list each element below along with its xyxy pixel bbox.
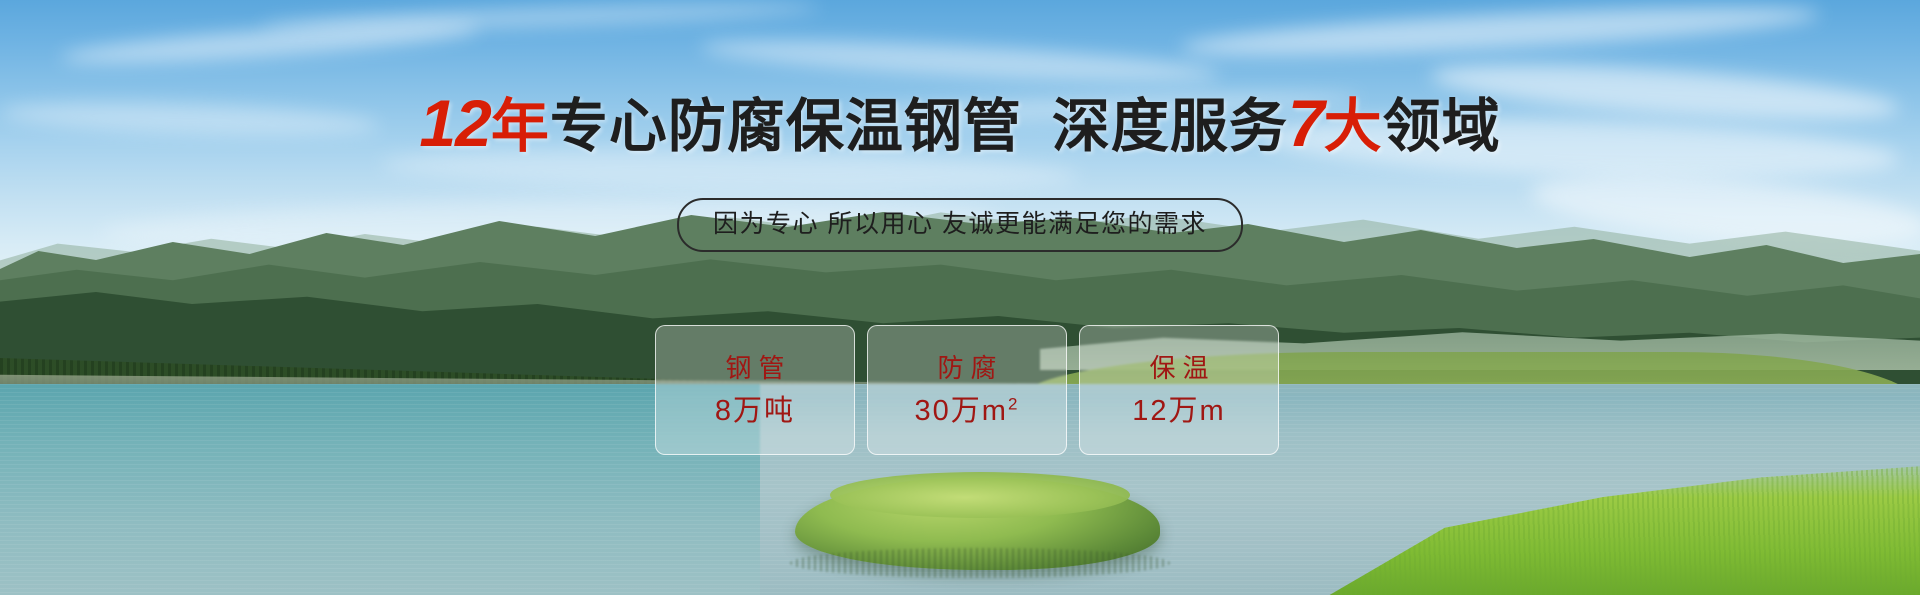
stat-card-label: 钢管 [718,354,791,382]
stat-card-value: 30万m2 [915,396,1020,426]
banner-headline: 12年专心防腐保温钢管深度服务7大领域 [0,92,1920,158]
stat-card-value-superscript: 2 [1008,394,1019,413]
stat-card-anticorrosion[interactable]: 防腐 30万m2 [867,325,1067,455]
promo-banner: 12年专心防腐保温钢管深度服务7大领域 因为专心 所以用心 友诚更能满足您的需求… [0,0,1920,595]
headline-fields-unit: 大 [1324,94,1383,159]
stat-card-value: 12万m [1132,396,1225,426]
stat-card-insulation[interactable]: 保温 12万m [1079,325,1279,455]
headline-years-unit: 年 [491,94,550,159]
stat-card-value-base: 12万m [1132,395,1225,427]
grass-island-fringe [790,548,1170,578]
headline-years-number: 12 [419,86,490,160]
headline-service-phrase: 深度服务 [1052,94,1288,159]
stat-card-value-base: 30万m [915,395,1008,427]
stat-card-group: 钢管 8万吨 防腐 30万m2 保温 12万m [655,325,1279,455]
grass-island-top [830,472,1130,518]
cloud-wisp [700,32,1221,89]
banner-subtitle-pill: 因为专心 所以用心 友诚更能满足您的需求 [677,198,1243,252]
stat-card-value-base: 8万吨 [715,395,795,427]
stat-card-label: 保温 [1142,354,1215,382]
stat-card-value: 8万吨 [715,396,795,426]
headline-main-phrase: 专心防腐保温钢管 [550,94,1022,159]
headline-fields-word: 领域 [1383,94,1501,159]
stat-card-label: 防腐 [930,354,1003,382]
cloud-wisp [1180,0,1821,65]
headline-fields-number: 7 [1288,86,1324,160]
stat-card-steel-pipe[interactable]: 钢管 8万吨 [655,325,855,455]
